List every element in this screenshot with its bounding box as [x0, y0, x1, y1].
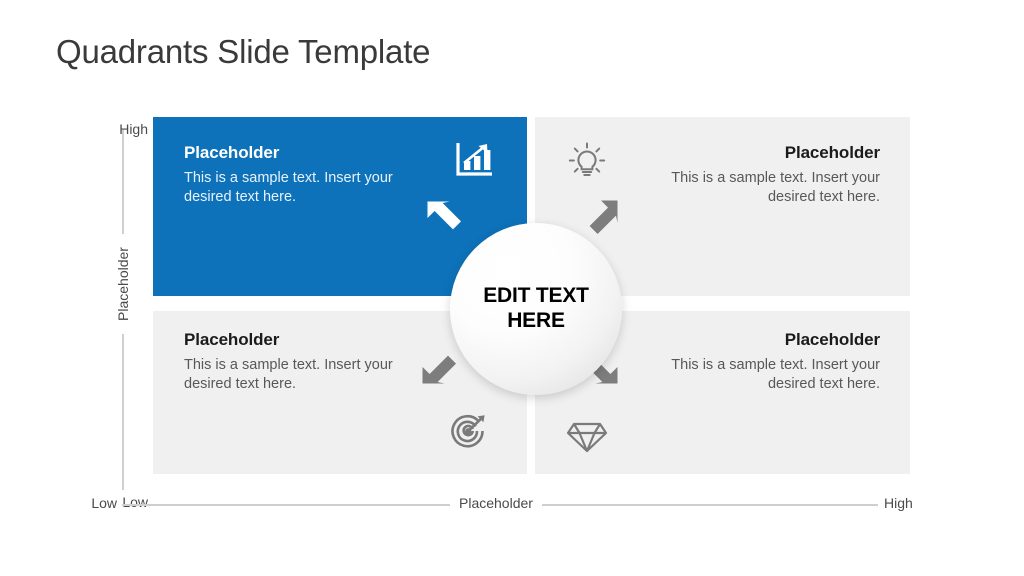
page-title: Quadrants Slide Template	[56, 33, 430, 71]
bar-chart-growth-icon	[455, 141, 495, 184]
x-axis-title: Placeholder	[450, 495, 542, 511]
y-axis-title: Placeholder	[109, 234, 137, 334]
arrow-up-left-icon	[424, 198, 466, 245]
x-axis-low-label: Low	[75, 495, 117, 511]
quadrant-bottom-right-body: This is a sample text. Insert your desir…	[630, 356, 880, 394]
quadrant-bottom-left-heading: Placeholder	[184, 330, 279, 350]
quadrant-bottom-left-body: This is a sample text. Insert your desir…	[184, 356, 434, 394]
lightbulb-idea-icon	[565, 139, 609, 188]
quadrant-bottom-right-heading: Placeholder	[785, 330, 880, 350]
quadrant-top-left-heading: Placeholder	[184, 143, 279, 163]
arrow-down-left-icon	[420, 344, 462, 391]
center-circle-label: EDIT TEXT HERE	[483, 284, 589, 334]
quadrant-top-left-body: This is a sample text. Insert your desir…	[184, 169, 434, 207]
quadrant-top-right-body: This is a sample text. Insert your desir…	[630, 169, 880, 207]
center-circle[interactable]: EDIT TEXT HERE	[450, 223, 622, 395]
x-axis-high-label: High	[884, 495, 913, 511]
quadrant-top-right-heading: Placeholder	[785, 143, 880, 163]
y-axis-high-label: High	[98, 121, 148, 137]
diamond-gem-icon	[565, 417, 609, 460]
target-bullseye-icon	[450, 413, 490, 456]
